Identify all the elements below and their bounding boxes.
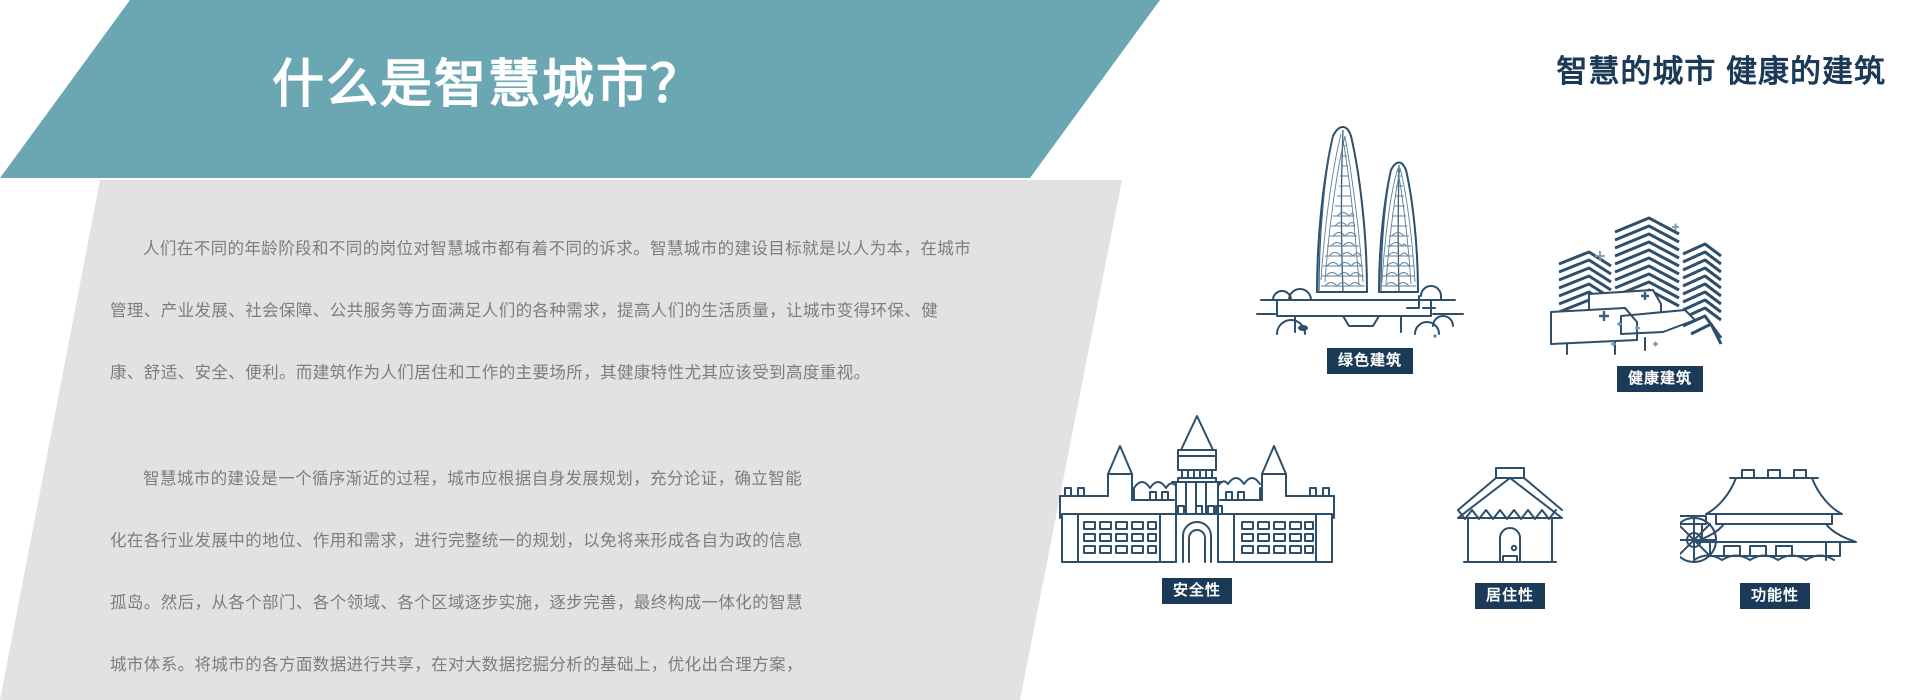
paragraph2-line3: 孤岛。然后，从各个部门、各个领域、各个区域逐步实施，逐步完善，最终构成一体化的智… xyxy=(110,572,1020,634)
paragraph1-line2: 管理、产业发展、社会保障、公共服务等方面满足人们的各种需求，提高人们的生活质量，… xyxy=(110,280,1020,342)
status-badge-functionality: 功能性 xyxy=(1740,583,1810,609)
icon-label-wrap-livability: 居住性 xyxy=(1410,583,1610,609)
house-icon xyxy=(1450,460,1570,575)
status-badge-livability: 居住性 xyxy=(1475,583,1545,609)
paragraph2-line5: 进行资源统筹，实现各方面的业务协同。 xyxy=(110,696,1020,700)
paragraph-spacer xyxy=(110,404,1020,448)
icon-label-wrap-green-building: 绿色建筑 xyxy=(1240,348,1500,374)
paragraph2-line4: 城市体系。将城市的各方面数据进行共享，在对大数据挖掘分析的基础上，优化出合理方案… xyxy=(110,634,1020,696)
icon-item-functionality[interactable]: 功能性 xyxy=(1650,460,1900,609)
status-badge-healthy-building: 健康建筑 xyxy=(1617,366,1703,392)
paragraph2-line2: 化在各行业发展中的地位、作用和需求，进行完整统一的规划，以免将来形成各自为政的信… xyxy=(110,510,1020,572)
icon-gallery: 绿色建筑 xyxy=(1040,110,1920,690)
icon-label-wrap-safety: 安全性 xyxy=(1052,578,1342,604)
icon-item-green-building[interactable]: 绿色建筑 xyxy=(1240,110,1500,374)
slide-canvas: 什么是智慧城市？ 智慧的城市 健康的建筑 人们在不同的年龄阶段和不同的岗位对智慧… xyxy=(0,0,1920,700)
watermill-pavilion-icon xyxy=(1680,460,1870,575)
icon-label-wrap-healthy-building: 健康建筑 xyxy=(1530,366,1790,392)
paragraph1-line1: 人们在不同的年龄阶段和不同的岗位对智慧城市都有着不同的诉求。智慧城市的建设目标就… xyxy=(110,218,1020,280)
status-badge-green-building: 绿色建筑 xyxy=(1327,348,1413,374)
headline: 智慧的城市 健康的建筑 xyxy=(1556,46,1886,91)
status-badge-safety: 安全性 xyxy=(1162,578,1232,604)
hospital-buildings-icon xyxy=(1545,198,1775,358)
icon-item-healthy-building[interactable]: 健康建筑 xyxy=(1530,198,1790,392)
paragraph1-line3: 康、舒适、安全、便利。而建筑作为人们居住和工作的主要场所，其健康特性尤其应该受到… xyxy=(110,342,1020,404)
icon-item-safety[interactable]: 安全性 xyxy=(1052,410,1342,604)
paragraph2-line1: 智慧城市的建设是一个循序渐近的过程，城市应根据自身发展规划，充分论证，确立智能 xyxy=(110,448,1020,510)
twin-towers-icon xyxy=(1255,110,1485,340)
body-text-block: 人们在不同的年龄阶段和不同的岗位对智慧城市都有着不同的诉求。智慧城市的建设目标就… xyxy=(110,218,1020,700)
icon-label-wrap-functionality: 功能性 xyxy=(1650,583,1900,609)
page-title: 什么是智慧城市？ xyxy=(272,42,704,117)
icon-item-livability[interactable]: 居住性 xyxy=(1410,460,1610,609)
castle-icon xyxy=(1052,410,1342,570)
